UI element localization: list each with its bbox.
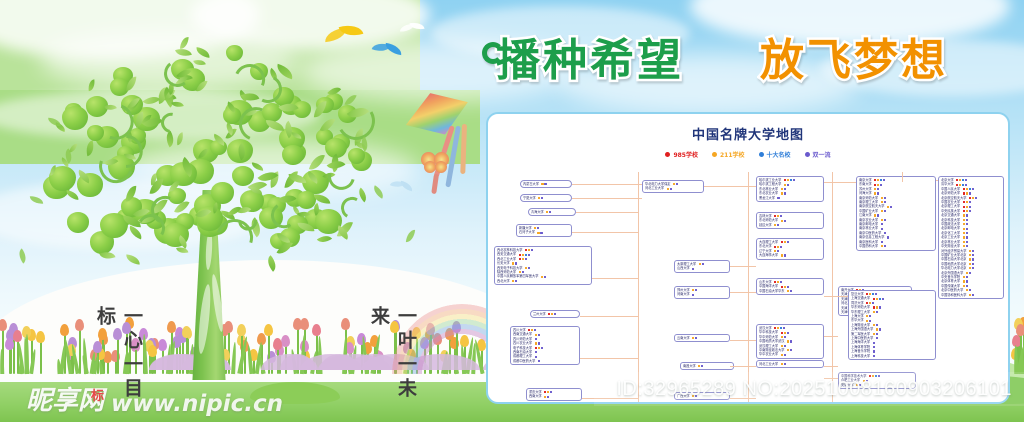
headline-orange-text: 放飞梦想 [760, 35, 948, 86]
university-name: 河南大学 [677, 292, 690, 296]
tag-dot-icon [784, 179, 786, 181]
university-name: 西北大学 [497, 279, 510, 283]
university-row: 延边大学 [759, 223, 821, 227]
apple-tree-illustration [28, 10, 388, 380]
tag-dot-icon [873, 306, 875, 308]
tag-dot-icon [787, 332, 789, 334]
tag-dot-icon [969, 263, 971, 265]
university-tags [866, 315, 871, 317]
mindmap-node-heilongjiang[interactable]: 哈尔滨工业大学哈尔滨工程大学东北林业大学东北农业大学黑龙江大学 [756, 176, 824, 202]
university-name: 南昌大学 [683, 364, 696, 368]
tag-dot-icon [873, 355, 875, 357]
university-tags [781, 345, 786, 347]
tag-dot-icon [963, 232, 965, 234]
tag-dot-icon [876, 306, 878, 308]
tree-apple [211, 182, 234, 203]
tag-dot-icon [873, 350, 875, 352]
mindmap-node-beijing[interactable]: 北京大学清华大学中国人民大学北京师范大学北京航空航天大学中国农业大学北京理工大学… [938, 176, 1004, 299]
legend-label: 十大名校 [767, 150, 791, 159]
university-tags [866, 302, 874, 304]
tag-dot-icon [882, 298, 884, 300]
watermark-url: www.nipic.cn [111, 391, 283, 417]
tag-dot-icon [963, 241, 965, 243]
tag-dot-icon [781, 192, 783, 194]
tag-dot-icon [887, 236, 889, 238]
university-tags [969, 267, 974, 269]
mindmap-connector [580, 316, 638, 317]
tag-dot-icon [881, 219, 883, 221]
tag-dot-icon [551, 313, 553, 315]
university-row: 大连海事大学 [759, 253, 821, 257]
university-tags [692, 289, 697, 291]
university-tags [881, 228, 883, 230]
university-tags [774, 327, 785, 329]
university-name: 西南大学 [529, 394, 542, 398]
university-name: 青海大学 [531, 210, 544, 214]
mindmap-node-jilin[interactable]: 吉林大学东北师范大学延边大学 [756, 212, 824, 229]
tag-dot-icon [963, 214, 965, 216]
tag-dot-icon [969, 197, 971, 199]
university-tags [692, 268, 694, 270]
mindmap-connector [824, 296, 848, 297]
tree-leaf [275, 64, 295, 80]
tag-dot-icon [541, 197, 543, 199]
university-tags [963, 201, 971, 203]
tag-dot-icon [528, 329, 530, 331]
tree-leaf [193, 57, 206, 67]
mindmap-node-neimenggu[interactable]: 内蒙古大学 [520, 180, 572, 188]
mindmap-node-xinjiang[interactable]: 新疆大学石河子大学 [516, 224, 572, 237]
tag-dot-icon [781, 188, 783, 190]
tag-dot-icon [963, 285, 965, 287]
university-row: 山西大学 [677, 266, 727, 270]
university-tags [519, 254, 530, 256]
university-tags [969, 258, 974, 260]
mindmap-node-ningxia[interactable]: 宁夏大学 [520, 194, 572, 202]
university-tags [546, 211, 551, 213]
mindmap-connector [580, 358, 638, 359]
mindmap-connector [936, 180, 938, 181]
university-tags [963, 276, 968, 278]
tag-dot-icon [963, 228, 965, 230]
tag-dot-icon [784, 354, 786, 356]
mindmap-node-shanxi[interactable]: 太原理工大学山西大学 [674, 260, 730, 273]
panel-title: 中国名牌大学地图 [488, 124, 1008, 143]
tag-dot-icon [692, 337, 694, 339]
tag-dot-icon [534, 329, 536, 331]
tag-dot-icon [787, 184, 789, 186]
university-name: 中国药科大学 [859, 244, 878, 248]
tag-dot-icon [515, 262, 517, 264]
tag-dot-icon [963, 192, 965, 194]
tag-dot-icon [975, 197, 977, 199]
watermark-brand: 昵享网标www.nipic.cn [26, 380, 283, 417]
tag-dot-icon [966, 228, 968, 230]
university-tags [873, 324, 878, 326]
university-row: 上海科技大学 [851, 354, 933, 358]
tag-dot-icon [554, 313, 556, 315]
university-row: 华中农业大学 [759, 352, 821, 356]
university-tags [881, 201, 886, 203]
university-tags [787, 290, 792, 292]
university-tags [781, 286, 789, 288]
university-tags [528, 329, 536, 331]
tag-dot-icon [959, 184, 961, 186]
tag-dot-icon [866, 302, 868, 304]
tree-leaf [195, 47, 210, 58]
tag-dot-icon [547, 391, 549, 393]
legend-item[interactable]: 211学校 [712, 150, 745, 159]
tree-leaf [264, 255, 280, 271]
mindmap-node-chongqing[interactable]: 重庆大学西南大学 [526, 388, 582, 401]
mindmap-connector [902, 172, 903, 182]
tag-dot-icon [535, 356, 537, 358]
tag-dot-icon [774, 215, 776, 217]
mindmap-node-hebei-node[interactable]: 河北工业大学 [756, 360, 824, 368]
university-tags [667, 188, 672, 190]
mindmap-node-jiangsu[interactable]: 南京大学东南大学苏州大学河海大学南京师范大学南京理工大学南京航空航天大学中国矿业… [856, 176, 936, 251]
university-tags [544, 391, 552, 393]
tag-dot-icon [873, 333, 875, 335]
tag-dot-icon [880, 184, 882, 186]
watermark-brand-sup: 标 [91, 385, 104, 404]
tree-leaf [175, 132, 184, 145]
tag-dot-icon [784, 192, 786, 194]
university-name: 黑龙江大学 [759, 196, 775, 200]
tag-dot-icon [966, 232, 968, 234]
mindmap-node-qinghai[interactable]: 青海大学 [528, 208, 576, 216]
university-name: 宁夏大学 [523, 196, 536, 200]
university-tags [692, 337, 697, 339]
tag-dot-icon [790, 340, 792, 342]
tag-dot-icon [873, 298, 875, 300]
university-tags [881, 245, 886, 247]
university-tags [541, 183, 546, 185]
tag-dot-icon [956, 179, 958, 181]
tag-dot-icon [787, 179, 789, 181]
university-tags [966, 289, 971, 291]
university-tags [781, 332, 789, 334]
tag-dot-icon [972, 254, 974, 256]
tag-dot-icon [966, 206, 968, 208]
mindmap-connector [730, 292, 756, 293]
tag-dot-icon [881, 210, 883, 212]
tag-dot-icon [969, 267, 971, 269]
tag-dot-icon [515, 280, 517, 282]
tag-dot-icon [774, 250, 776, 252]
tag-dot-icon [966, 245, 968, 247]
floating-leaf [30, 196, 43, 205]
university-tags [887, 236, 889, 238]
tag-dot-icon [866, 320, 868, 322]
mindmap-node-gansu[interactable]: 兰州大学 [530, 310, 580, 318]
flower-bloom [1016, 324, 1024, 336]
tag-dot-icon [780, 281, 782, 283]
slogan-right-text: 一叶一未来 [368, 306, 417, 402]
university-tags [774, 215, 782, 217]
university-tags [774, 250, 779, 252]
tag-dot-icon [879, 306, 881, 308]
tag-dot-icon [963, 201, 965, 203]
mindmap-node-sichuan[interactable]: 四川大学西南交通大学四川师范大学四川农业大学电子科技大学西南石油大学成都理工大学… [510, 326, 580, 365]
tag-dot-icon [880, 179, 882, 181]
university-tags [963, 228, 968, 230]
tag-dot-icon [969, 201, 971, 203]
mindmap-node-henan[interactable]: 郑州大学河南大学 [674, 286, 730, 299]
tag-dot-icon [881, 241, 883, 243]
mindmap-node-huazhong[interactable]: 华北电力大学保定河北工业大学 [642, 180, 704, 193]
university-tags [535, 334, 540, 336]
tag-dot-icon [874, 184, 876, 186]
tag-dot-icon [972, 263, 974, 265]
university-name: 华中农业大学 [759, 352, 778, 356]
tag-dot-icon [774, 281, 776, 283]
university-tags [866, 320, 871, 322]
tag-dot-icon [781, 220, 783, 222]
mindmap-connector [730, 340, 756, 341]
tag-dot-icon [876, 324, 878, 326]
mindmap-canvas[interactable]: 内蒙古大学宁夏大学青海大学新疆大学石河子大学西北农林科技大学西安交通大学西北工业… [488, 166, 1010, 404]
tag-dot-icon [784, 220, 786, 222]
mindmap-node-hubei[interactable]: 武汉大学华中科技大学华中师范大学中国地质大学武汉武汉理工大学中南财经政法大学华中… [756, 324, 824, 359]
mindmap-node-shaanxi[interactable]: 西北农林科技大学西安交通大学西北工业大学长安大学西安电子科技大学陕西师范大学中国… [494, 246, 592, 285]
university-tags [884, 232, 886, 234]
tag-dot-icon [972, 258, 974, 260]
tag-dot-icon [963, 188, 965, 190]
university-row: 兰州大学 [533, 312, 577, 316]
tag-dot-icon [781, 354, 783, 356]
tag-dot-icon [972, 197, 974, 199]
tag-dot-icon [966, 285, 968, 287]
tag-dot-icon [873, 311, 875, 313]
tag-dot-icon [699, 263, 701, 265]
tag-dot-icon [781, 286, 783, 288]
university-tags [781, 254, 786, 256]
university-tags [969, 250, 974, 252]
poster-headline: 播种希望 放飞梦想 [496, 24, 988, 88]
tag-dot-icon [963, 210, 965, 212]
tag-dot-icon [512, 280, 514, 282]
tag-dot-icon [780, 327, 782, 329]
university-tags [963, 285, 968, 287]
university-tags [963, 206, 971, 208]
tag-dot-icon [873, 346, 875, 348]
tag-dot-icon [787, 241, 789, 243]
tag-dot-icon [550, 391, 552, 393]
university-tags [699, 263, 704, 265]
tag-dot-icon [667, 188, 669, 190]
tag-dot-icon [963, 280, 965, 282]
tag-dot-icon [959, 179, 961, 181]
tag-dot-icon [522, 254, 524, 256]
tag-dot-icon [525, 267, 527, 269]
tag-dot-icon [884, 197, 886, 199]
tag-dot-icon [881, 223, 883, 225]
university-row: 西北大学 [497, 279, 589, 283]
tag-dot-icon [692, 294, 694, 296]
mindmap-connector [572, 184, 642, 185]
tag-dot-icon [966, 272, 968, 274]
university-tags [876, 337, 878, 339]
tree-leaf [88, 79, 96, 91]
tag-dot-icon [701, 365, 703, 367]
mindmap-connector [832, 172, 833, 404]
university-tags [866, 293, 877, 295]
tag-dot-icon [884, 219, 886, 221]
university-tags [535, 342, 540, 344]
university-row: 中国协和医科大学 [941, 293, 1001, 297]
tag-dot-icon [531, 249, 533, 251]
butterfly-tail [431, 174, 439, 195]
tag-dot-icon [965, 184, 967, 186]
tag-dot-icon [962, 179, 964, 181]
tag-dot-icon [519, 254, 521, 256]
tag-dot-icon [969, 188, 971, 190]
university-tags [963, 236, 968, 238]
tag-dot-icon [695, 289, 697, 291]
tag-dot-icon [781, 363, 783, 365]
mindmap-node-shandong[interactable]: 山东大学中国海洋大学中国石油大学华东 [756, 278, 824, 295]
mindmap-connector [572, 198, 642, 199]
mindmap-node-yunnan[interactable]: 云南大学 [674, 334, 730, 342]
tag-dot-icon [872, 302, 874, 304]
tree-leaf [162, 131, 176, 147]
tag-dot-icon [884, 201, 886, 203]
university-tags [544, 396, 549, 398]
tag-dot-icon [966, 236, 968, 238]
university-tags [956, 179, 967, 181]
tag-dot-icon [784, 286, 786, 288]
university-row: 中国石油大学华东 [759, 289, 821, 293]
legend-item[interactable]: 双一流 [805, 150, 831, 159]
university-tags [874, 184, 882, 186]
tag-dot-icon [784, 336, 786, 338]
university-tags [969, 197, 977, 199]
floating-leaf [48, 118, 61, 127]
tag-dot-icon [535, 347, 537, 349]
university-tags [535, 338, 537, 340]
university-row: 青海大学 [531, 210, 573, 214]
tag-dot-icon [784, 345, 786, 347]
university-tags [512, 262, 517, 264]
university-tags [963, 232, 968, 234]
tag-dot-icon [874, 192, 876, 194]
tag-dot-icon [784, 363, 786, 365]
tag-dot-icon [534, 227, 536, 229]
mindmap-connector [592, 278, 638, 279]
university-tags [881, 210, 886, 212]
mindmap-node-shanghai[interactable]: 复旦大学上海交通大学同济大学华东师范大学华东理工大学上海大学东华大学上海财经大学… [848, 290, 936, 360]
tag-dot-icon [525, 249, 527, 251]
tag-dot-icon [881, 228, 883, 230]
tag-dot-icon [670, 188, 672, 190]
university-tags [774, 224, 779, 226]
tag-dot-icon [874, 188, 876, 190]
tag-dot-icon [676, 183, 678, 185]
tag-dot-icon [787, 286, 789, 288]
tag-dot-icon [966, 241, 968, 243]
mindmap-connector [824, 366, 838, 367]
university-tags [537, 232, 542, 234]
university-tags [538, 360, 540, 362]
tag-dot-icon [869, 293, 871, 295]
poster-canvas: 播种希望 放飞梦想 一心一目标 一叶一未来 中国名牌大学地图 985学校211学… [0, 0, 1024, 422]
tag-dot-icon [546, 211, 548, 213]
tag-dot-icon [884, 210, 886, 212]
university-tags [525, 249, 533, 251]
tag-dot-icon [541, 347, 543, 349]
tag-dot-icon [702, 263, 704, 265]
watermark-id: ID:32965289 NO:20251008160903206101 [616, 378, 1012, 401]
legend-item[interactable]: 985学校 [665, 150, 698, 159]
tag-dot-icon [522, 271, 524, 273]
university-name: 河北工业大学 [759, 362, 778, 366]
tag-dot-icon [549, 211, 551, 213]
mindmap-node-jiangxi[interactable]: 南昌大学 [680, 362, 734, 370]
tag-dot-icon [780, 215, 782, 217]
university-name: 内蒙古大学 [523, 182, 539, 186]
tag-dot-icon [784, 184, 786, 186]
university-tags [781, 336, 786, 338]
tree-apple [232, 166, 254, 186]
university-tags [956, 184, 967, 186]
tag-dot-icon [866, 315, 868, 317]
university-row: 西南大学 [529, 394, 579, 398]
tag-dot-icon [884, 245, 886, 247]
tag-dot-icon [873, 342, 875, 344]
tag-dot-icon [777, 327, 779, 329]
flower-bloom [5, 338, 14, 350]
tag-dot-icon [877, 192, 879, 194]
university-tags [777, 197, 779, 199]
mindmap-node-liaoning[interactable]: 大连理工大学东北大学辽宁大学大连海事大学 [756, 238, 824, 260]
tag-dot-icon [528, 267, 530, 269]
legend-dot-icon [805, 152, 810, 157]
tag-dot-icon [969, 258, 971, 260]
mindmap-connector [824, 336, 838, 337]
tag-dot-icon [884, 232, 886, 234]
university-tags [873, 333, 878, 335]
legend: 985学校211学校十大名校双一流 [488, 150, 1008, 159]
university-tags [784, 184, 789, 186]
headline-green-text: 播种希望 [496, 35, 684, 86]
tag-dot-icon [544, 276, 546, 278]
tag-dot-icon [969, 192, 971, 194]
tag-dot-icon [777, 224, 779, 226]
tag-dot-icon [544, 396, 546, 398]
floating-leaf [15, 248, 29, 263]
tag-dot-icon [541, 183, 543, 185]
tag-dot-icon [881, 201, 883, 203]
tag-dot-icon [877, 179, 879, 181]
tag-dot-icon [966, 280, 968, 282]
university-tags [874, 192, 879, 194]
university-row: 黑龙江大学 [759, 196, 821, 200]
university-tags [963, 245, 968, 247]
university-tags [969, 294, 974, 296]
mindmap-connector [638, 172, 639, 404]
legend-item[interactable]: 十大名校 [759, 150, 791, 159]
university-name: 上海科技大学 [851, 354, 870, 358]
university-row: 成都中医药大学 [513, 359, 577, 363]
tag-dot-icon [522, 258, 524, 260]
tag-dot-icon [781, 332, 783, 334]
tag-dot-icon [538, 334, 540, 336]
tree-leaf [84, 140, 96, 156]
tag-dot-icon [535, 338, 537, 340]
tag-dot-icon [966, 223, 968, 225]
university-tags [873, 355, 875, 357]
